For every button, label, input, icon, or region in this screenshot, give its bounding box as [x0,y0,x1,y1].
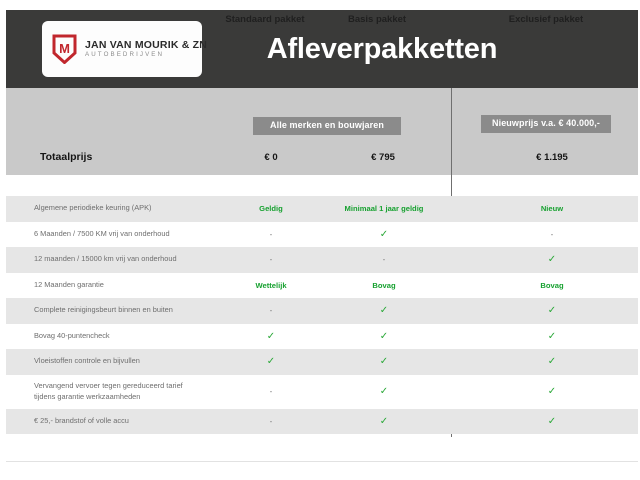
cell-basis: - [326,247,442,273]
table-row: Bovag 40-puntencheck ✓ ✓ ✓ [6,324,638,350]
feature-label: Bovag 40-puntencheck [34,324,234,350]
cell-standaard: - [213,409,329,435]
feature-label-line1: € 25,- brandstof of volle accu [34,416,234,427]
feature-label: 12 maanden / 15000 km vrij van onderhoud [34,247,234,273]
table-row: € 25,- brandstof of volle accu - ✓ ✓ [6,409,638,435]
table-row: 12 maanden / 15000 km vrij van onderhoud… [6,247,638,273]
badge-nieuwprijs: Nieuwprijs v.a. € 40.000,- [481,115,611,133]
feature-label: Complete reinigingsbeurt binnen en buite… [34,298,234,324]
cell-exclusief: ✓ [468,247,636,273]
table-bottom-rule [6,461,638,462]
feature-table: Algemene periodieke keuring (APK) Geldig… [6,196,638,434]
cell-standaard: - [213,375,329,409]
cell-basis: ✓ [326,349,442,375]
total-price-row: Totaalprijs € 0 € 795 € 1.195 [6,143,638,175]
cell-standaard: ✓ [213,324,329,350]
cell-basis: ✓ [326,409,442,435]
total-price-basis: € 795 [331,152,435,163]
total-price-exclusief: € 1.195 [474,152,630,163]
feature-label-line2: tijdens garantie werkzaamheden [34,392,234,403]
feature-label-line1: Algemene periodieke keuring (APK) [34,203,234,214]
table-row: Algemene periodieke keuring (APK) Geldig… [6,196,638,222]
cell-exclusief: ✓ [468,324,636,350]
cell-exclusief: ✓ [468,349,636,375]
badge-alle-merken: Alle merken en bouwjaren [253,117,401,135]
cell-exclusief: ✓ [468,375,636,409]
cell-basis: ✓ [326,375,442,409]
column-header-basis: Basis pakket [325,14,429,25]
cell-exclusief: Nieuw [468,196,636,222]
total-price-standaard: € 0 [219,152,323,163]
feature-label-line1: 12 Maanden garantie [34,280,234,291]
table-row: 6 Maanden / 7500 KM vrij van onderhoud -… [6,222,638,248]
feature-label-line1: 6 Maanden / 7500 KM vrij van onderhoud [34,229,234,240]
feature-label-line1: Vloeistoffen controle en bijvullen [34,356,234,367]
feature-label: Algemene periodieke keuring (APK) [34,196,234,222]
cell-basis: ✓ [326,324,442,350]
table-footer-space [6,437,638,461]
feature-label-line1: Bovag 40-puntencheck [34,331,234,342]
cell-standaard: - [213,247,329,273]
feature-label-line1: Vervangend vervoer tegen gereduceerd tar… [34,381,234,392]
column-header-standaard: Standaard pakket [213,14,317,25]
feature-label: 6 Maanden / 7500 KM vrij van onderhoud [34,222,234,248]
cell-basis: ✓ [326,298,442,324]
afleverpakketten-page: M JAN VAN MOURIK & ZN AUTOBEDRIJVEN Afle… [0,0,640,480]
feature-label: Vloeistoffen controle en bijvullen [34,349,234,375]
cell-exclusief: ✓ [468,298,636,324]
cell-standaard: ✓ [213,349,329,375]
cell-standaard: - [213,222,329,248]
feature-label-line1: Complete reinigingsbeurt binnen en buite… [34,305,234,316]
total-price-label: Totaalprijs [40,151,92,163]
cell-basis: Minimaal 1 jaar geldig [326,196,442,222]
cell-basis: Bovag [326,273,442,299]
cell-standaard: Geldig [213,196,329,222]
table-row: Vervangend vervoer tegen gereduceerd tar… [6,375,638,409]
feature-label: 12 Maanden garantie [34,273,234,299]
feature-label: Vervangend vervoer tegen gereduceerd tar… [34,375,234,409]
column-header-exclusief: Exclusief pakket [468,14,624,25]
cell-standaard: - [213,298,329,324]
table-row: 12 Maanden garantie Wettelijk Bovag Bova… [6,273,638,299]
table-row: Complete reinigingsbeurt binnen en buite… [6,298,638,324]
feature-label: € 25,- brandstof of volle accu [34,409,234,435]
cell-exclusief: ✓ [468,409,636,435]
table-row: Vloeistoffen controle en bijvullen ✓ ✓ ✓ [6,349,638,375]
feature-label-line1: 12 maanden / 15000 km vrij van onderhoud [34,254,234,265]
cell-exclusief: Bovag [468,273,636,299]
cell-basis: ✓ [326,222,442,248]
cell-standaard: Wettelijk [213,273,329,299]
cell-exclusief: - [468,222,636,248]
